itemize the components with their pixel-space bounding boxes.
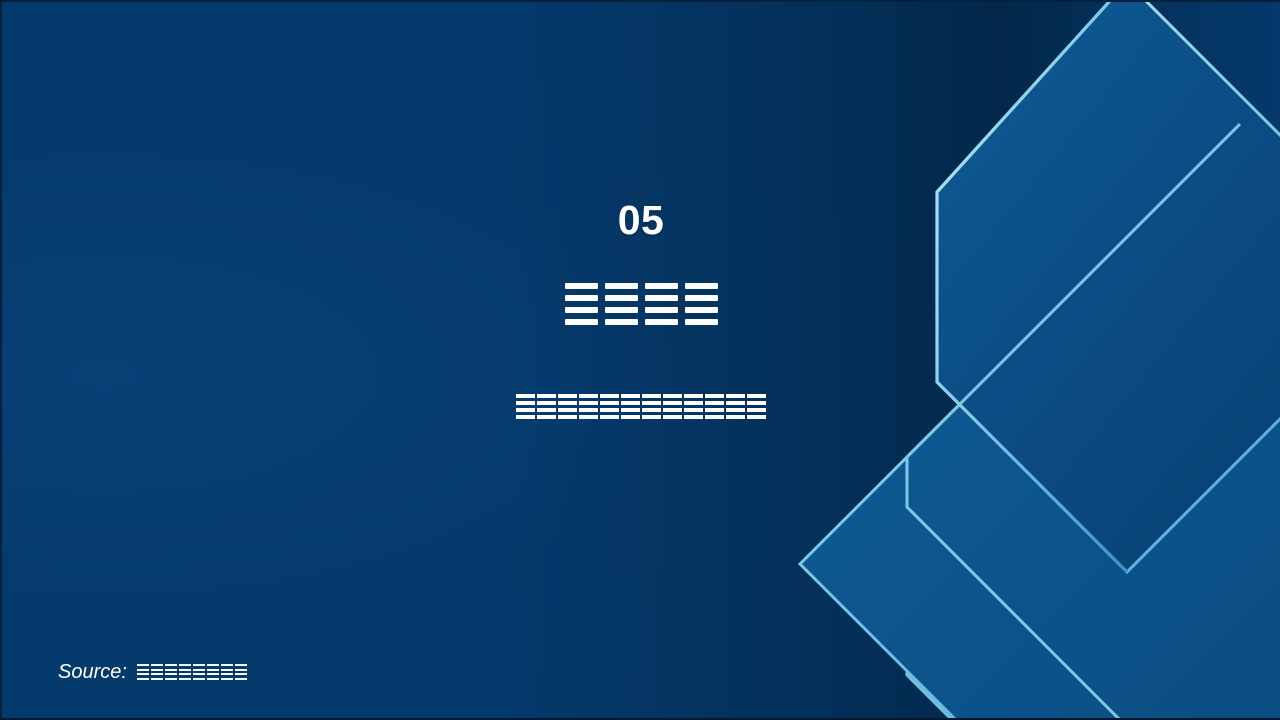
source-glyph bbox=[235, 664, 247, 680]
source-glyph bbox=[179, 664, 191, 680]
title-glyph bbox=[685, 281, 718, 329]
section-subtitle bbox=[2, 391, 1280, 421]
subtitle-glyph bbox=[747, 394, 766, 419]
subtitle-glyph bbox=[642, 394, 661, 419]
source-glyph bbox=[221, 664, 233, 680]
source-value bbox=[137, 664, 247, 680]
subtitle-glyph bbox=[516, 394, 535, 419]
subtitle-glyph bbox=[726, 394, 745, 419]
title-glyph bbox=[605, 281, 638, 329]
slide-center-content: 05 bbox=[2, 200, 1280, 421]
title-glyph bbox=[565, 281, 598, 329]
source-glyph bbox=[137, 664, 149, 680]
presentation-slide: 05 Source: bbox=[0, 0, 1280, 720]
source-footnote: Source: bbox=[58, 662, 247, 682]
source-glyph bbox=[193, 664, 205, 680]
subtitle-glyph bbox=[621, 394, 640, 419]
subtitle-glyph bbox=[705, 394, 724, 419]
source-glyph bbox=[165, 664, 177, 680]
subtitle-glyph bbox=[579, 394, 598, 419]
subtitle-glyph bbox=[600, 394, 619, 419]
subtitle-glyph bbox=[663, 394, 682, 419]
source-glyph bbox=[151, 664, 163, 680]
source-glyph bbox=[207, 664, 219, 680]
section-title bbox=[2, 281, 1280, 329]
subtitle-glyph bbox=[684, 394, 703, 419]
source-label: Source: bbox=[58, 662, 127, 682]
subtitle-glyph bbox=[558, 394, 577, 419]
title-glyph bbox=[645, 281, 678, 329]
section-number: 05 bbox=[2, 200, 1280, 241]
subtitle-glyph bbox=[537, 394, 556, 419]
